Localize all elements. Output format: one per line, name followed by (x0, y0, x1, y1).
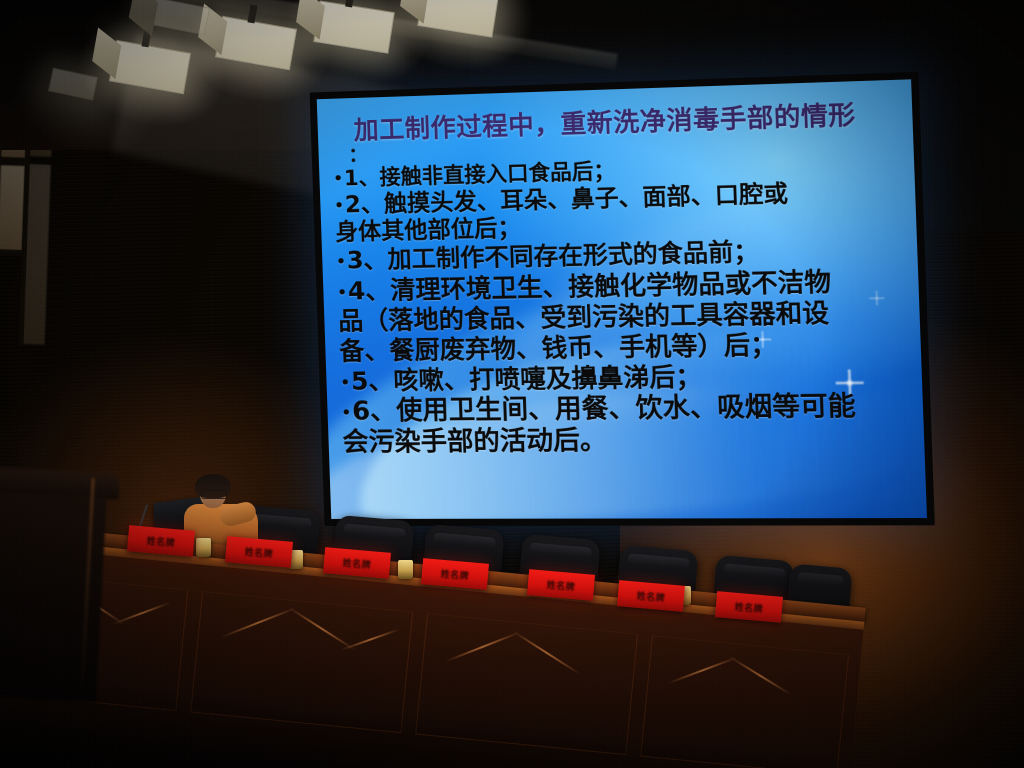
bullet-icon: • (341, 404, 351, 422)
item-text: 身体其他部位后； (335, 216, 522, 247)
item-number: 3、 (346, 246, 388, 275)
nameplate-text: 姓名牌 (440, 566, 470, 581)
slide-content: 加工制作过程中，重新洗净消毒手部的情形 ： •1、接触非直接入口食品后； •2、… (317, 79, 927, 519)
nameplate-text: 姓名牌 (342, 555, 372, 570)
item-text: 备、餐厨废弃物、钱币、手机等）后； (339, 330, 777, 366)
item-number: 5、 (350, 366, 393, 396)
item-text: 使用卫生间、用餐、饮水、吸烟等可能 (396, 391, 857, 426)
bullet-icon: • (340, 373, 350, 391)
item-text: 会污染手部的活动后。 (342, 426, 607, 458)
projection-screen: 加工制作过程中，重新洗净消毒手部的情形 ： •1、接触非直接入口食品后； •2、… (317, 79, 927, 519)
nameplate-text: 姓名牌 (636, 588, 666, 603)
cup-1 (196, 538, 211, 557)
nameplate-text: 姓名牌 (244, 544, 274, 559)
item-number: 2、 (344, 191, 384, 218)
bullet-icon: • (333, 170, 343, 188)
item-number: 4、 (347, 275, 390, 305)
slide-bullet-list: •1、接触非直接入口食品后； •2、触摸头发、耳朵、鼻子、面部、口腔或 身体其他… (333, 151, 916, 458)
item-text: 咳嗽、打喷嚏及擤鼻涕后； (393, 362, 702, 395)
lectern (0, 467, 120, 704)
item-number: 6、 (352, 396, 397, 427)
list-item: •6、使用卫生间、用餐、饮水、吸烟等可能 (341, 390, 915, 426)
nameplate-text: 姓名牌 (146, 533, 176, 548)
glasses-icon (201, 490, 227, 499)
item-number: 1、 (344, 166, 380, 191)
nameplate-text: 姓名牌 (734, 599, 764, 614)
nameplate-text: 姓名牌 (546, 577, 576, 592)
list-item: •5、咳嗽、打喷嚏及擤鼻涕后； (340, 359, 914, 396)
bullet-icon: • (337, 283, 347, 301)
cup-3 (398, 560, 413, 579)
bullet-icon: • (334, 196, 344, 214)
bullet-icon: • (336, 252, 346, 270)
conference-hall-photo: 加工制作过程中，重新洗净消毒手部的情形 ： •1、接触非直接入口食品后； •2、… (0, 0, 1024, 768)
list-item-continuation: 会污染手部的活动后。 (342, 423, 916, 458)
screen-surface: 加工制作过程中，重新洗净消毒手部的情形 ： •1、接触非直接入口食品后； •2、… (317, 79, 927, 519)
